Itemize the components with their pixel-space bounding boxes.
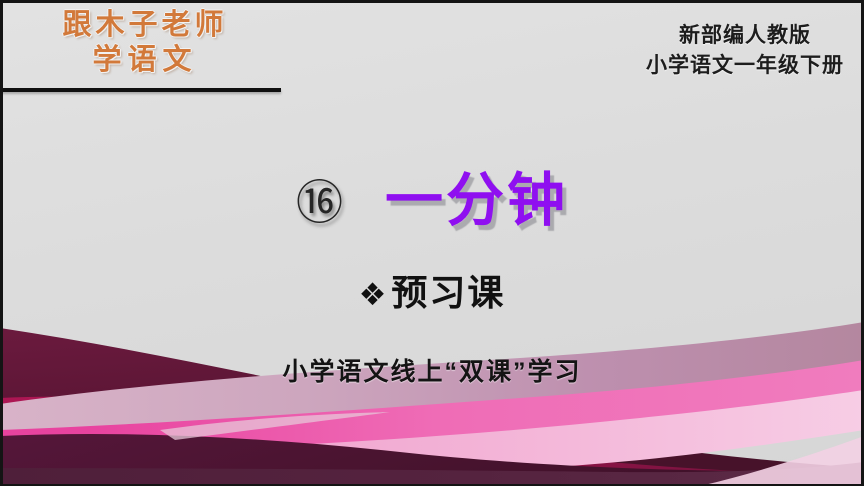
border-top [0, 0, 864, 3]
publisher-info: 新部编人教版 小学语文一年级下册 [646, 20, 844, 80]
channel-logo-line-1: 跟木子老师 [0, 8, 290, 43]
lesson-subtitle-label: 预习课 [391, 272, 505, 313]
lesson-subtitle: ❖预习课 [0, 264, 864, 316]
channel-logo: 跟木子老师 学语文 [0, 8, 290, 78]
presentation-slide: 跟木子老师 学语文 新部编人教版 小学语文一年级下册 ⑯ 一分钟 ❖预习课 小学… [0, 0, 864, 486]
diamond-bullet-icon: ❖ [359, 277, 389, 312]
lesson-title-row: ⑯ 一分钟 [0, 170, 864, 232]
publisher-grade-volume: 小学语文一年级下册 [646, 50, 844, 80]
logo-underline-rule [0, 88, 281, 92]
course-tagline: 小学语文线上“双课”学习 [0, 352, 864, 388]
border-left [0, 0, 3, 486]
publisher-edition: 新部编人教版 [646, 20, 844, 50]
lesson-number-badge: ⑯ [296, 180, 343, 227]
page-title: 一分钟 [385, 170, 568, 232]
channel-logo-line-2: 学语文 [0, 43, 290, 78]
